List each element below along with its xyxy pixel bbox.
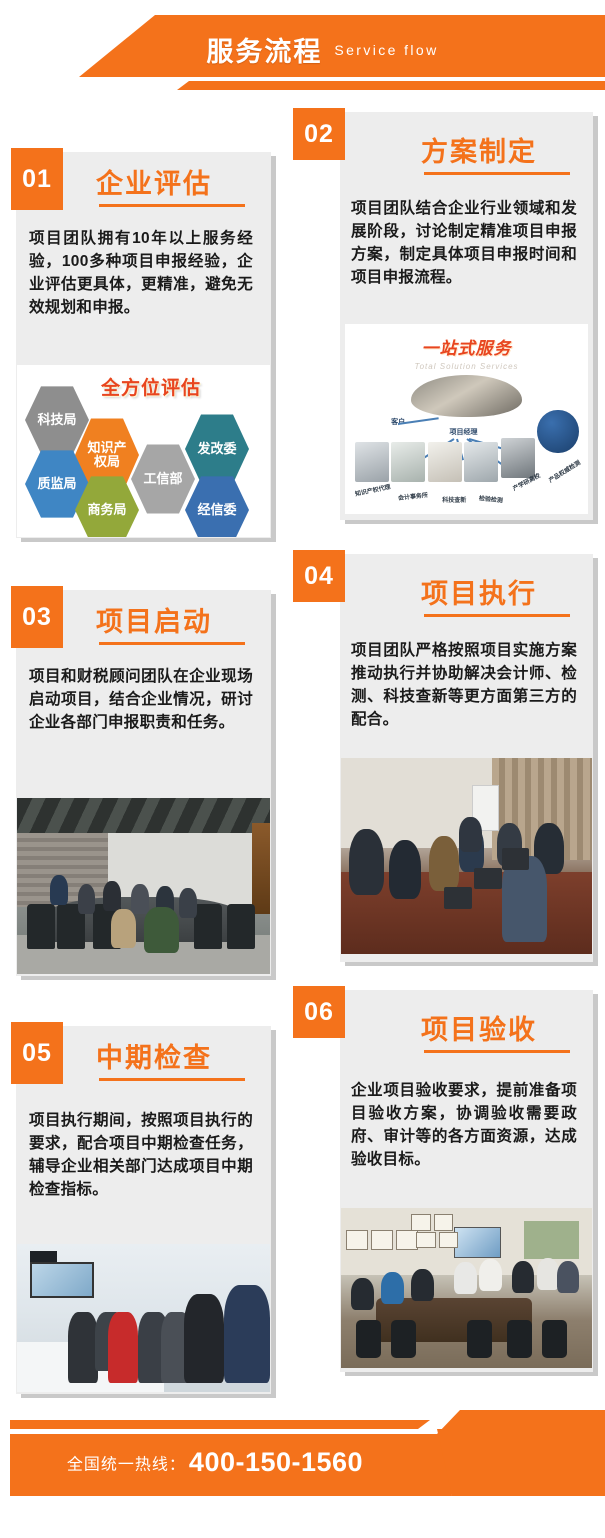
header-title-group: 服务流程Service flow xyxy=(0,30,605,69)
step-number-06: 06 xyxy=(304,998,334,1027)
hex-node-label: 知识产权局 xyxy=(87,441,127,469)
photo-detail xyxy=(50,875,68,905)
photo-detail xyxy=(389,840,422,899)
step-card-04: 04 项目执行 项目团队严格按照项目实施方案推动执行并协助解决会计师、检测、科技… xyxy=(293,550,593,962)
step-card-05: 05 中期检查 项目执行期间，按照项目执行的要求，配合项目中期检查任务，辅导企业… xyxy=(11,1022,271,1394)
photo-detail xyxy=(512,1261,535,1293)
hex-node-fagaiwei: 发改委 xyxy=(185,413,249,485)
photo-detail xyxy=(381,1272,404,1304)
photo-detail xyxy=(349,829,384,896)
hex-node-label: 质监局 xyxy=(37,477,76,491)
hex-node-label: 工信部 xyxy=(143,472,182,486)
showroom-visit-photo xyxy=(17,1244,270,1392)
hex-node-label: 发改委 xyxy=(197,442,236,456)
card-text-04: 项目团队严格按照项目实施方案推动执行并协助解决会计师、检测、科技查新等更方面第三… xyxy=(351,640,577,732)
photo-detail xyxy=(351,1278,374,1310)
photo-detail xyxy=(454,1227,501,1258)
one-stop-service-label: 科技查新 xyxy=(442,495,466,504)
photo-detail xyxy=(227,904,255,950)
card-title-04: 项目执行 xyxy=(421,572,537,611)
laptop-meeting-photo xyxy=(341,758,592,954)
photo-detail xyxy=(108,1312,138,1383)
photo-detail xyxy=(439,1232,459,1248)
card-title-rule-02 xyxy=(424,172,570,175)
card-title-rule-05 xyxy=(99,1078,245,1081)
photo-detail xyxy=(27,904,55,950)
photo-detail xyxy=(537,1258,560,1290)
footer-hotline: 全国统一热线：400-150-1560 xyxy=(0,1447,430,1478)
photo-detail xyxy=(103,881,121,911)
hotline-number: 400-150-1560 xyxy=(189,1447,363,1477)
photo-detail xyxy=(467,1320,492,1358)
photo-detail xyxy=(507,1320,532,1358)
one-stop-manager-label: 项目经理 xyxy=(449,427,477,437)
photo-detail xyxy=(131,884,149,914)
card-text-03: 项目和财税顾问团队在企业现场启动项目，结合企业情况，研讨企业各部门申报职责和任务… xyxy=(29,666,253,735)
step-number-badge-01: 01 xyxy=(11,148,63,210)
photo-detail xyxy=(391,1320,416,1358)
one-stop-thumb xyxy=(501,438,535,478)
page-title: 服务流程 xyxy=(206,37,322,67)
photo-detail xyxy=(144,907,179,953)
card-title-05: 中期检查 xyxy=(96,1036,212,1075)
photo-detail xyxy=(479,1259,502,1291)
hex-node-label: 经信委 xyxy=(197,503,236,517)
step-number-badge-06: 06 xyxy=(293,986,345,1038)
card-text-02: 项目团队结合企业行业领域和发展阶段，讨论制定精准项目申报方案，制定具体项目申报时… xyxy=(351,198,577,290)
step-card-01: 01 企业评估 项目团队拥有10年以上服务经验，100多种项目申报经验，企业评估… xyxy=(11,148,271,538)
photo-detail xyxy=(30,1251,58,1261)
one-stop-hero-photo xyxy=(411,375,523,417)
photo-detail xyxy=(184,1294,224,1383)
photo-detail xyxy=(396,1230,418,1250)
one-stop-service-label: 产品权威检测 xyxy=(547,458,582,485)
hex-node-label: 商务局 xyxy=(87,503,126,517)
card-title-rule-03 xyxy=(99,642,245,645)
photo-detail xyxy=(111,909,136,948)
one-stop-service-diagram: 一站式服务 Total Solution Services 客户 项目经理 知识… xyxy=(345,324,588,514)
step-number-05: 05 xyxy=(22,1039,52,1068)
hex-node-jingxinwei: 经信委 xyxy=(185,475,249,537)
photo-detail xyxy=(542,1320,567,1358)
hex-node-label: 科技局 xyxy=(37,413,76,427)
photo-detail xyxy=(411,1269,434,1301)
one-stop-thumb xyxy=(355,442,389,482)
card-text-06: 企业项目验收要求，提前准备项目验收方案，协调验收需要政府、审计等的各方面资源，达… xyxy=(351,1080,577,1172)
conference-photo xyxy=(341,1208,592,1368)
photo-detail xyxy=(194,904,222,950)
step-number-badge-04: 04 xyxy=(293,550,345,602)
page-footer: 全国统一热线：400-150-1560 xyxy=(0,1410,605,1538)
meeting-room-photo xyxy=(17,798,270,974)
card-title-03: 项目启动 xyxy=(96,600,212,639)
hotline-label: 全国统一热线： xyxy=(67,1457,186,1474)
photo-detail xyxy=(411,1214,431,1230)
photo-detail xyxy=(416,1232,436,1248)
card-text-01: 项目团队拥有10年以上服务经验，100多种项目申报经验，企业评估更具体，更精准，… xyxy=(29,228,253,320)
one-stop-service-label: 检验检测 xyxy=(478,493,503,504)
photo-detail xyxy=(371,1230,393,1250)
hex-node-keji: 科技局 xyxy=(25,385,89,455)
card-title-06: 项目验收 xyxy=(421,1008,537,1047)
header-stripe xyxy=(0,81,605,90)
one-stop-thumb xyxy=(464,442,498,482)
photo-detail xyxy=(179,888,197,918)
one-stop-seal-icon xyxy=(535,408,580,456)
photo-detail xyxy=(356,1320,381,1358)
page-header: 服务流程Service flow xyxy=(0,0,605,108)
photo-detail xyxy=(454,1262,477,1294)
step-number-badge-02: 02 xyxy=(293,108,345,160)
hex-node-gongxinbu: 工信部 xyxy=(131,443,195,515)
card-title-rule-01 xyxy=(99,204,245,207)
step-number-04: 04 xyxy=(304,562,334,591)
photo-detail xyxy=(78,884,96,914)
photo-detail xyxy=(434,1214,454,1230)
one-stop-thumb xyxy=(391,442,425,482)
photo-detail xyxy=(429,836,459,891)
one-stop-thumb xyxy=(428,442,462,482)
one-stop-service-label: 知识产权代理 xyxy=(354,482,391,498)
step-card-06: 06 项目验收 企业项目验收要求，提前准备项目验收方案，协调验收需要政府、审计等… xyxy=(293,986,593,1372)
photo-detail xyxy=(68,1312,98,1383)
card-title-02: 方案制定 xyxy=(421,130,537,169)
photo-detail xyxy=(346,1230,368,1250)
card-title-rule-04 xyxy=(424,614,570,617)
page-subtitle: Service flow xyxy=(334,42,438,58)
step-number-03: 03 xyxy=(22,603,52,632)
step-card-02: 02 方案制定 项目团队结合企业行业领域和发展阶段，讨论制定精准项目申报方案，制… xyxy=(293,108,593,520)
step-number-badge-05: 05 xyxy=(11,1022,63,1084)
photo-detail xyxy=(444,887,472,909)
hex-diagram: 全方位评估 科技局 知识产权局 发改委 质监局 工信部 商务局 经信委 xyxy=(17,365,270,537)
hex-diagram-title: 全方位评估 xyxy=(101,373,201,400)
step-number-badge-03: 03 xyxy=(11,586,63,648)
card-title-01: 企业评估 xyxy=(96,162,212,201)
photo-detail xyxy=(474,868,502,890)
photo-detail xyxy=(459,817,482,852)
photo-detail xyxy=(557,1261,580,1293)
one-stop-service-label: 会计事务所 xyxy=(398,490,429,502)
photo-detail xyxy=(252,823,270,915)
one-stop-subtitle: Total Solution Services xyxy=(345,362,588,371)
card-text-05: 项目执行期间，按照项目执行的要求，配合项目中期检查任务，辅导企业相关部门达成项目… xyxy=(29,1110,253,1202)
step-number-02: 02 xyxy=(304,120,334,149)
photo-detail xyxy=(502,848,530,870)
photo-detail xyxy=(524,1221,579,1259)
step-card-03: 03 项目启动 项目和财税顾问团队在企业现场启动项目，结合企业情况，研讨企业各部… xyxy=(11,586,271,976)
step-number-01: 01 xyxy=(22,165,52,194)
one-stop-title: 一站式服务 xyxy=(345,334,588,359)
photo-detail xyxy=(224,1285,270,1383)
service-flow-page: 服务流程Service flow 01 企业评估 项目团队拥有10年以上服务经验… xyxy=(0,0,605,1538)
card-title-rule-06 xyxy=(424,1050,570,1053)
photo-detail xyxy=(30,1262,95,1299)
